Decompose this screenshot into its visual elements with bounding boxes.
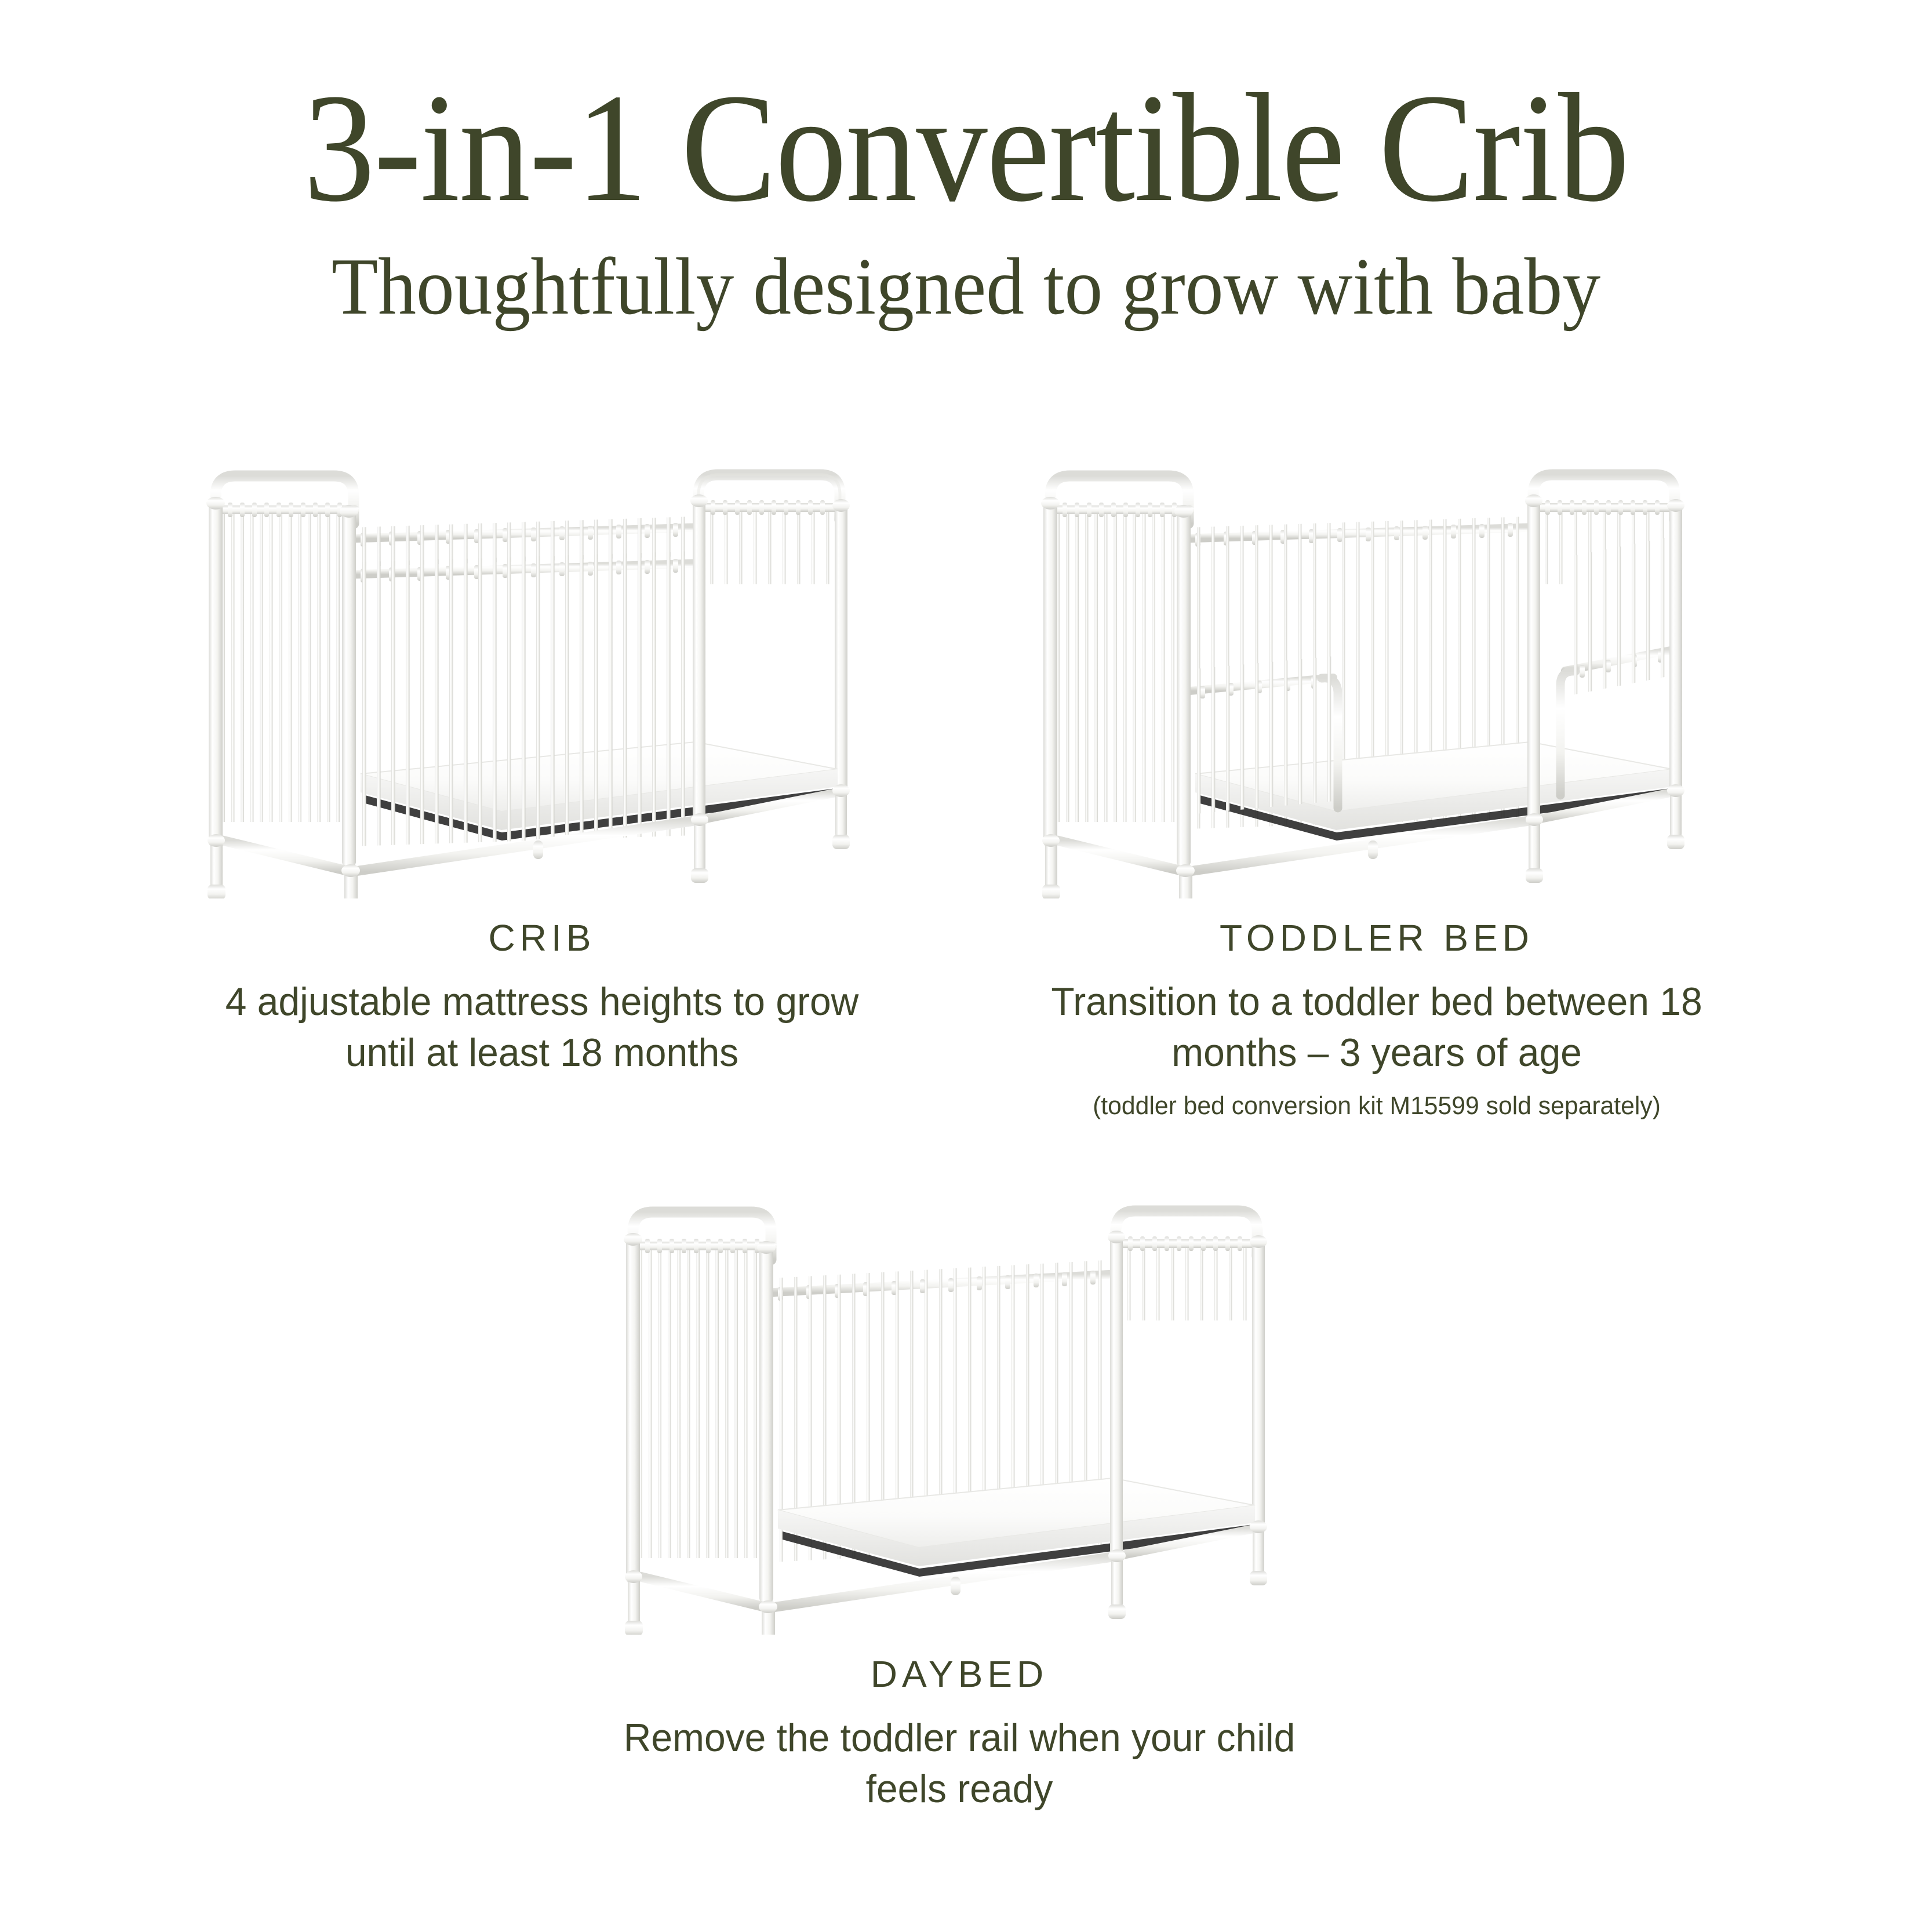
panel-toddler-bed: TODDLER BED Transition to a toddler bed … [1009, 441, 1745, 1122]
panel-daybed: DAYBED Remove the toddler rail when your… [591, 1177, 1327, 1815]
panel-crib: CRIB 4 adjustable mattress heights to gr… [174, 441, 910, 1079]
caption-daybed: DAYBED Remove the toddler rail when your… [591, 1656, 1327, 1815]
panel-label-crib: CRIB [174, 919, 910, 956]
caption-toddler-bed: TODDLER BED Transition to a toddler bed … [1009, 919, 1745, 1122]
toddler-bed-illustration [1009, 441, 1745, 898]
header: 3-in-1 Convertible Crib Thoughtfully des… [0, 0, 1932, 329]
panel-label-daybed: DAYBED [591, 1656, 1327, 1693]
caption-crib: CRIB 4 adjustable mattress heights to gr… [174, 919, 910, 1079]
panel-body-crib: 4 adjustable mattress heights to grow un… [185, 976, 899, 1079]
panel-body-daybed: Remove the toddler rail when your child … [602, 1712, 1316, 1815]
page-subtitle: Thoughtfully designed to grow with baby [58, 227, 1874, 329]
crib-illustration [174, 441, 910, 898]
daybed-illustration [591, 1177, 1327, 1635]
panel-fineprint-toddler-bed: (toddler bed conversion kit M15599 sold … [1020, 1089, 1734, 1122]
panel-label-toddler-bed: TODDLER BED [1009, 919, 1745, 956]
panel-body-toddler-bed: Transition to a toddler bed between 18 m… [1020, 976, 1734, 1079]
infographic-page: 3-in-1 Convertible Crib Thoughtfully des… [0, 0, 1932, 1932]
page-title: 3-in-1 Convertible Crib [77, 0, 1854, 227]
